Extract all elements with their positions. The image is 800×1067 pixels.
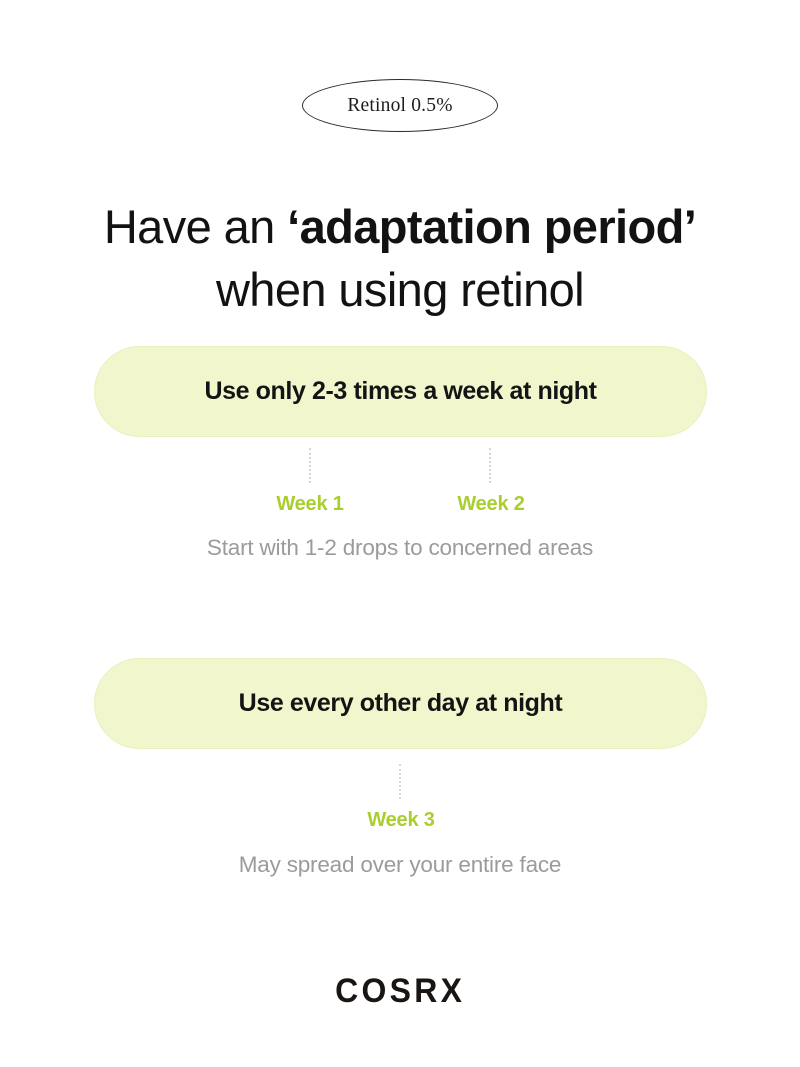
- step-1-caption: Start with 1-2 drops to concerned areas: [0, 537, 800, 560]
- infographic-page: Retinol 0.5% Have an ‘adaptation period’…: [0, 0, 800, 1067]
- step-2-pill: Use every other day at night: [94, 658, 707, 749]
- headline-line-1: Have an ‘adaptation period’: [0, 195, 800, 258]
- headline-prefix: Have an: [104, 200, 287, 253]
- step-2-caption: May spread over your entire face: [0, 854, 800, 877]
- page-title: Have an ‘adaptation period’ when using r…: [0, 195, 800, 321]
- badge-label: Retinol 0.5%: [347, 96, 452, 116]
- connector-week-3: [399, 764, 403, 799]
- step-2-pill-label: Use every other day at night: [239, 691, 563, 716]
- headline-emphasis: ‘adaptation period’: [287, 200, 696, 253]
- week-label-1: Week 1: [276, 494, 343, 514]
- cosrx-logo: COSRX: [335, 974, 465, 1008]
- connector-week-1: [309, 448, 313, 483]
- week-label-2: Week 2: [457, 494, 524, 514]
- headline-line-2: when using retinol: [0, 258, 800, 321]
- connector-week-2: [489, 448, 493, 483]
- step-1-pill: Use only 2-3 times a week at night: [94, 346, 707, 437]
- retinol-concentration-badge: Retinol 0.5%: [302, 79, 498, 132]
- badge-container: Retinol 0.5%: [0, 79, 800, 132]
- step-1-pill-label: Use only 2-3 times a week at night: [204, 379, 596, 404]
- brand-logo-container: COSRX: [0, 974, 800, 1008]
- week-label-3: Week 3: [367, 810, 434, 830]
